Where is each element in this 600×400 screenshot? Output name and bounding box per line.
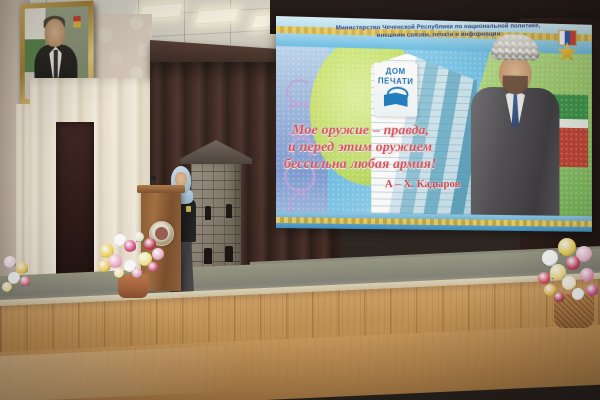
speaker-badge <box>186 206 191 212</box>
quote-author: А – Х. Кадыров <box>385 178 460 190</box>
tower-window <box>204 248 212 264</box>
tower-roof <box>180 140 252 164</box>
flower-bloom <box>148 262 158 272</box>
flower-bloom <box>4 256 16 268</box>
flower-bloom <box>558 238 576 256</box>
flower-bloom <box>586 284 598 296</box>
flower-bloom <box>572 288 584 300</box>
flower-arrangement-right <box>528 232 600 344</box>
flower-bloom <box>20 276 30 286</box>
speaker-face <box>175 172 187 186</box>
flower-bloom <box>152 248 164 260</box>
dom-pechati-sign: ДОМ ПЕЧАТИ <box>374 62 417 116</box>
flower-bloom <box>114 268 124 278</box>
tower-window <box>205 206 211 220</box>
podium-top <box>137 185 185 193</box>
tower-window <box>225 246 233 262</box>
flower-bloom <box>16 262 28 274</box>
photo-scene: ДОМ ПЕЧАТИ Министерство Чеченской Респуб… <box>0 0 600 400</box>
doorway-trim <box>52 118 98 296</box>
flower-bloom <box>580 268 594 282</box>
flower-pot <box>118 274 148 298</box>
flower-bloom <box>2 282 12 292</box>
flower-bloom <box>124 240 136 252</box>
flower-arrangement-far-left <box>0 246 34 298</box>
open-book-logo-icon <box>384 86 408 108</box>
flower-arrangement-left <box>94 226 172 300</box>
flower-bloom <box>566 256 580 270</box>
quote-line-1: Мое оружие – правда, <box>292 122 488 139</box>
quote-line-3: бессильна любая армия! <box>284 156 488 173</box>
dom-pechati-sign-line2: ПЕЧАТИ <box>374 76 417 86</box>
tower-window <box>226 204 232 218</box>
banner-quote: Мое оружие – правда, и перед этим оружие… <box>292 122 488 173</box>
flower-bloom <box>554 292 564 302</box>
portrait-head <box>44 18 64 46</box>
papakha-hat-icon <box>491 34 539 61</box>
flower-bloom <box>538 272 550 284</box>
quote-line-2: и перед этим оружием <box>288 139 488 156</box>
portrait-medal-icon <box>73 16 80 28</box>
flower-bloom <box>132 268 142 278</box>
kadyrov-beard <box>503 75 528 94</box>
flower-bloom <box>98 260 110 272</box>
portrait-tie <box>54 50 58 78</box>
flower-bloom <box>108 254 122 268</box>
flower-bloom <box>134 232 144 242</box>
stage-banner: ДОМ ПЕЧАТИ Министерство Чеченской Респуб… <box>276 16 592 232</box>
dom-pechati-sign-line1: ДОМ <box>374 66 417 76</box>
